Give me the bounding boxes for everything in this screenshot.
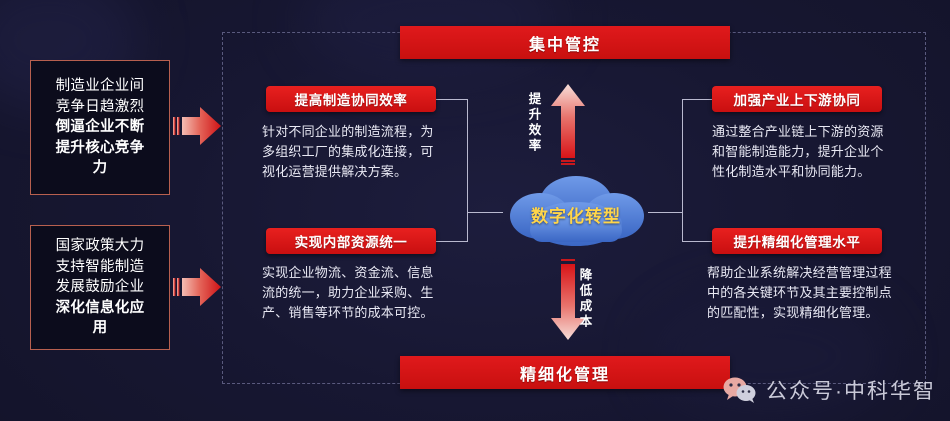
connector-line (682, 212, 683, 242)
premise-text: 制造业企业间 竞争日趋激烈 倒逼企业不断 提升核心竞争 力 (56, 76, 145, 179)
connector-line (436, 241, 468, 242)
branch-title-unify-resources[interactable]: 实现内部资源统一 (266, 228, 436, 254)
premise-box-policy: 国家政策大力 支持智能制造 发展鼓励企业 深化信息化应 用 (30, 225, 170, 350)
banner-centralized-control: 集中管控 (400, 26, 730, 59)
connector-line (682, 99, 712, 100)
banner-refined-management: 精细化管理 (400, 356, 730, 389)
branch-title-strengthen-chain[interactable]: 加强产业上下游协同 (712, 86, 882, 112)
cloud-label: 数字化转型 (496, 172, 656, 250)
connector-line (467, 212, 468, 242)
arrow-label-cost: 降低成本 (578, 268, 591, 330)
connector-line (436, 99, 468, 100)
premise-box-competition: 制造业企业间 竞争日趋激烈 倒逼企业不断 提升核心竞争 力 (30, 60, 170, 195)
right-arrow-icon (172, 264, 222, 310)
connector-line (682, 241, 712, 242)
up-arrow-icon (550, 84, 586, 166)
right-arrow-icon (172, 103, 222, 149)
branch-body-refined-management: 帮助企业系统解决经营管理过程中的各关键环节及其主要控制点的匹配性，实现精细化管理… (707, 263, 897, 323)
cloud-digital-transformation: 数字化转型 (496, 172, 656, 250)
premise-text: 国家政策大力 支持智能制造 发展鼓励企业 深化信息化应 用 (56, 236, 145, 339)
pill-label: 提高制造协同效率 (295, 89, 408, 109)
wechat-icon (723, 376, 757, 404)
diagram-canvas: 制造业企业间 竞争日趋激烈 倒逼企业不断 提升核心竞争 力 国家政策大力 支持智… (0, 0, 950, 421)
branch-body-unify-resources: 实现企业物流、资金流、信息流的统一，助力企业采购、生产、销售等环节的成本可控。 (262, 263, 442, 323)
branch-title-refined-management[interactable]: 提升精细化管理水平 (712, 228, 882, 254)
connector-line (682, 99, 683, 213)
branch-body-improve-collaboration: 针对不同企业的制造流程，为多组织工厂的集成化连接，可视化运营提供解决方案。 (262, 122, 442, 182)
connector-line (467, 99, 468, 213)
pill-label: 实现内部资源统一 (295, 231, 408, 251)
branch-body-strengthen-chain: 通过整合产业链上下游的资源和智能制造能力，提升企业个性化制造水平和协同能力。 (712, 122, 892, 182)
watermark-text: 公众号·中科华智 (766, 375, 936, 405)
pill-label: 加强产业上下游协同 (734, 89, 861, 109)
arrow-label-efficiency: 提升效率 (527, 92, 540, 154)
watermark: 公众号·中科华智 (723, 375, 936, 405)
banner-top-label: 集中管控 (529, 31, 601, 55)
banner-bottom-label: 精细化管理 (520, 361, 610, 385)
branch-title-improve-collaboration[interactable]: 提高制造协同效率 (266, 86, 436, 112)
pill-label: 提升精细化管理水平 (734, 231, 861, 251)
